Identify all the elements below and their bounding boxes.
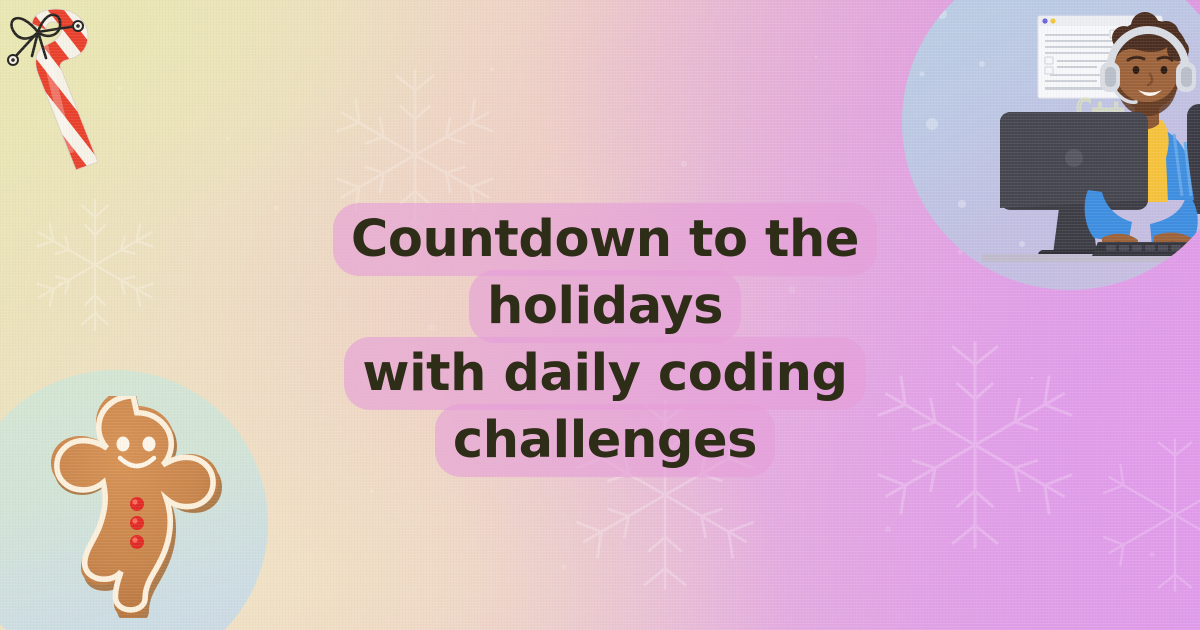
holiday-banner-canvas: </> (0, 0, 1200, 630)
gingerbread-man-icon (28, 396, 246, 618)
snowflake-icon (20, 190, 170, 340)
keyboard (1092, 242, 1200, 256)
headline-line-2: with daily coding (344, 337, 865, 410)
headline-line-3: challenges (435, 404, 775, 477)
headline-line-1: Countdown to the holidays (333, 203, 877, 343)
candy-cane-icon (2, 2, 122, 172)
snowflake-icon (1090, 430, 1200, 600)
page-title: Countdown to the holidays with daily cod… (250, 206, 960, 474)
